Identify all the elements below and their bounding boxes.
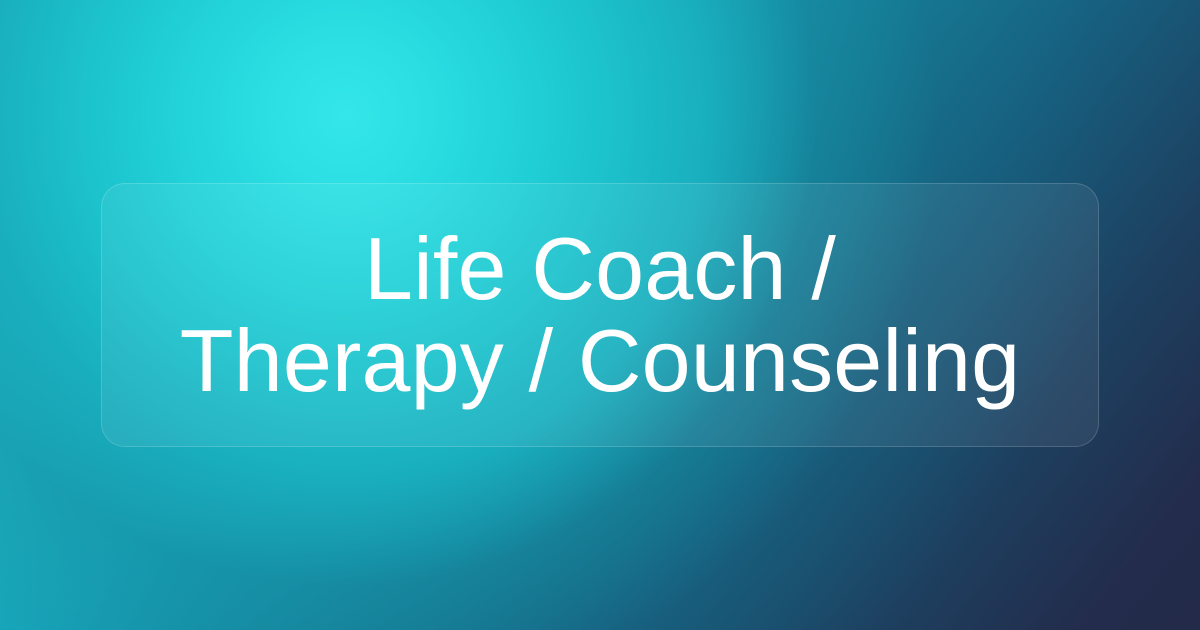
headline-card: Life Coach / Therapy / Counseling — [101, 183, 1099, 447]
page-title: Life Coach / Therapy / Counseling — [102, 223, 1098, 407]
page-canvas: Life Coach / Therapy / Counseling — [0, 0, 1200, 630]
